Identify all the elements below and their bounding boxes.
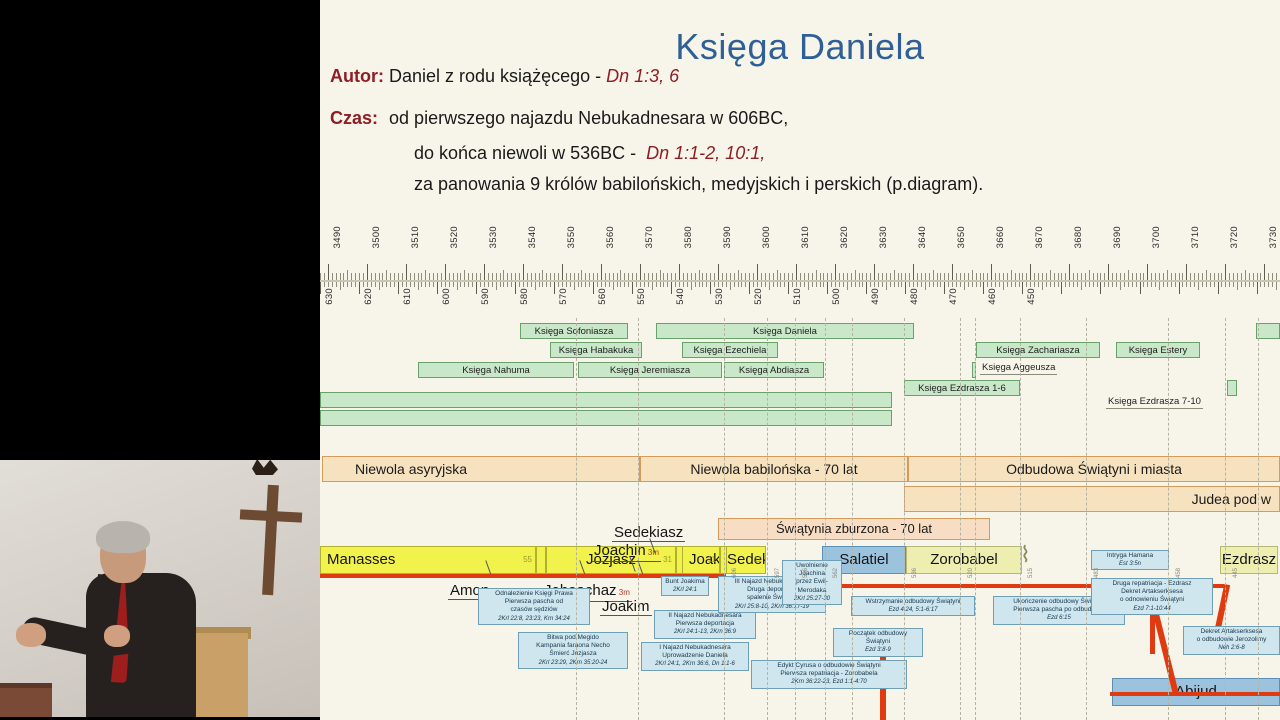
- speaker-video-overlay[interactable]: [0, 455, 320, 720]
- guide-year-label: 597: [775, 568, 781, 578]
- zigzag-break-icon: ⌇: [1020, 544, 1031, 566]
- book-bar[interactable]: Księga Ezechiela: [682, 342, 778, 358]
- historical-periods-band: Niewola asyryjskaNiewola babilońska - 70…: [320, 456, 1280, 516]
- ruler-tick: [613, 273, 614, 280]
- ruler-tick: [406, 264, 407, 280]
- ruler-tick: [851, 282, 852, 287]
- event-box[interactable]: Odnalezienie Księgi PrawaPierwsza pascha…: [478, 588, 590, 625]
- book-bar[interactable]: Księga Zachariasza: [976, 342, 1100, 358]
- ruler-tick: [457, 273, 458, 280]
- ruler-tick-label-top: 3710: [1190, 226, 1201, 248]
- period-band[interactable]: Niewola babilońska - 70 lat: [640, 456, 908, 482]
- ruler-tick-label-bottom: 490: [870, 288, 881, 305]
- ruler-tick: [386, 270, 387, 280]
- book-bar[interactable]: Księga Abdiasza: [724, 362, 824, 378]
- ruler-tick: [539, 282, 540, 287]
- ruler-tick-label-bottom: 480: [909, 288, 920, 305]
- ruler-tick: [980, 282, 981, 287]
- ruler-tick: [418, 282, 419, 290]
- event-box[interactable]: Druga repatriacja - EzdraszDekret Artaks…: [1091, 578, 1213, 615]
- ruler-tick: [1015, 282, 1016, 287]
- ruler-tick: [773, 273, 774, 280]
- ruler-tick: [1171, 282, 1172, 287]
- ruler-tick: [1229, 282, 1230, 287]
- ruler-tick: [1151, 282, 1152, 287]
- ruler-tick: [449, 273, 450, 280]
- ruler-tick: [464, 270, 465, 280]
- ruler-tick: [332, 273, 333, 280]
- ruler-tick-label-top: 3680: [1073, 226, 1084, 248]
- ruler-tick: [605, 282, 606, 287]
- ruler-tick: [585, 282, 586, 287]
- ruler-tick: [944, 282, 945, 294]
- ruler-tick: [983, 273, 984, 280]
- ruler-tick: [1132, 273, 1133, 280]
- ruler-tick: [1198, 282, 1199, 290]
- ruler-tick: [515, 282, 516, 294]
- ruler-tick: [948, 282, 949, 287]
- ruler-tick: [1171, 273, 1172, 280]
- ruler-tick: [445, 264, 446, 280]
- ruler-tick: [1257, 282, 1258, 294]
- ruler-tick: [480, 273, 481, 280]
- ruler-tick: [542, 282, 543, 287]
- king-reign-years: 11: [754, 547, 762, 573]
- ruler-tick: [1276, 273, 1277, 280]
- ruler-tick: [652, 282, 653, 290]
- ruler-tick: [1175, 282, 1176, 287]
- period-band[interactable]: Niewola asyryjska: [322, 456, 640, 482]
- ruler-tick: [843, 282, 844, 287]
- ruler-tick: [1140, 273, 1141, 280]
- ruler-tick-label-top: 3490: [332, 226, 343, 248]
- ruler-tick: [1147, 264, 1148, 280]
- event-box-line: Śmierć Jozjasza: [521, 650, 625, 658]
- king-bar[interactable]: Ezdrasz: [1220, 546, 1278, 574]
- time-row-2: do końca niewoli w 536BC - Dn 1:1-2, 10:…: [414, 143, 765, 164]
- ruler-tick: [332, 282, 333, 287]
- ruler-tick: [765, 282, 766, 287]
- ruler-tick-label-bottom: 550: [636, 288, 647, 305]
- event-box-line: II Najazd Nebukadnesara: [657, 612, 753, 620]
- ruler-tick-label-bottom: 560: [597, 288, 608, 305]
- ruler-tick: [940, 282, 941, 287]
- ruler-tick: [340, 273, 341, 280]
- ruler-tick: [1143, 282, 1144, 287]
- ruler-tick: [468, 282, 469, 287]
- chair: [0, 683, 52, 720]
- timeline-ruler: 3490350035103520353035403550356035703580…: [320, 226, 1280, 318]
- ruler-tick: [527, 282, 528, 287]
- ruler-tick: [1237, 282, 1238, 290]
- ruler-tick-label-top: 3530: [488, 226, 499, 248]
- event-box[interactable]: Początek odbudowy ŚwiątyniEzd 3:8-9: [833, 628, 923, 657]
- ruler-tick: [363, 282, 364, 287]
- ruler-tick: [1093, 282, 1094, 287]
- ruler-tick: [1140, 282, 1141, 294]
- ruler-tick: [937, 282, 938, 287]
- ruler-tick: [535, 282, 536, 290]
- presentation-slide: Księga Daniela Autor: Daniel z rodu ksią…: [320, 0, 1280, 720]
- ruler-tick: [1050, 282, 1051, 287]
- ruler-tick: [609, 273, 610, 280]
- ruler-tick: [656, 282, 657, 287]
- ruler-tick: [429, 273, 430, 280]
- ruler-tick: [1268, 273, 1269, 280]
- ruler-tick: [714, 273, 715, 280]
- book-bar[interactable]: Księga Jeremiasza: [578, 362, 722, 378]
- event-box-reference: Ezd 4:24, 5:1-6:17: [854, 606, 972, 614]
- ruler-tick-label-top: 3560: [605, 226, 616, 248]
- ruler-tick: [1245, 270, 1246, 280]
- ruler-tick: [1202, 273, 1203, 280]
- ruler-tick: [1151, 273, 1152, 280]
- timeline-red-line: [1110, 692, 1280, 696]
- event-box-reference: 2Krl 24:1-13, 2Krn 36:9: [657, 628, 753, 636]
- ruler-tick-label-bottom: 590: [480, 288, 491, 305]
- ruler-tick: [784, 282, 785, 287]
- ruler-tick: [589, 282, 590, 287]
- ruler-tick: [995, 282, 996, 287]
- ruler-tick: [421, 282, 422, 287]
- ruler-tick: [870, 273, 871, 280]
- ruler-tick: [562, 264, 563, 280]
- ruler-tick: [648, 273, 649, 280]
- ruler-tick: [496, 273, 497, 280]
- ruler-tick: [706, 282, 707, 287]
- ruler-tick: [1194, 282, 1195, 287]
- ruler-tick: [515, 273, 516, 280]
- ruler-tick: [1011, 282, 1012, 287]
- ruler-tick-label-top: 3650: [956, 226, 967, 248]
- ruler-tick: [500, 273, 501, 280]
- event-box[interactable]: Dekret Artakserksesao odbudowie Jerozoli…: [1183, 626, 1280, 655]
- ruler-tick-label-top: 3690: [1112, 226, 1123, 248]
- time-text-2: do końca niewoli w 536BC -: [414, 143, 636, 163]
- ruler-tick: [663, 273, 664, 280]
- ruler-tick: [1069, 264, 1070, 280]
- ruler-tick: [1061, 282, 1062, 294]
- ruler-tick-label-bottom: 520: [753, 288, 764, 305]
- ruler-tick: [1077, 282, 1078, 287]
- chart-vertical-guide: [795, 318, 796, 720]
- ruler-tick: [812, 273, 813, 280]
- ruler-tick: [441, 282, 442, 287]
- event-box-reference: Ezd 3:8-9: [836, 646, 920, 654]
- ruler-tick: [956, 282, 957, 287]
- event-box-line: Pierwsza deportacja: [657, 620, 753, 628]
- ruler-tick: [948, 273, 949, 280]
- ruler-tick: [1241, 273, 1242, 280]
- ruler-tick: [660, 270, 661, 280]
- ruler-tick: [1007, 282, 1008, 287]
- ruler-tick: [714, 282, 715, 287]
- ruler-tick: [511, 273, 512, 280]
- ruler-tick: [1249, 273, 1250, 280]
- ruler-tick: [894, 282, 895, 287]
- event-box-line: przez Ewil-Merodaka: [785, 578, 839, 594]
- chart-vertical-guide: [724, 318, 725, 720]
- ruler-tick: [464, 282, 465, 287]
- ruler-tick: [617, 282, 618, 287]
- ruler-tick: [347, 270, 348, 280]
- ruler-tick: [593, 282, 594, 294]
- ruler-tick: [1155, 282, 1156, 287]
- ruler-tick: [1225, 264, 1226, 280]
- ruler-tick: [1257, 273, 1258, 280]
- event-box[interactable]: I Najazd NebukadnesaraUprowadzenie Danie…: [641, 642, 749, 671]
- ruler-tick: [905, 282, 906, 294]
- ruler-tick: [1046, 273, 1047, 280]
- ruler-tick: [987, 273, 988, 280]
- ruler-tick: [597, 282, 598, 287]
- ruler-tick: [648, 282, 649, 287]
- ruler-tick: [1030, 264, 1031, 280]
- ruler-tick: [823, 273, 824, 280]
- ruler-tick: [574, 282, 575, 290]
- ruler-tick: [1179, 282, 1180, 294]
- ruler-tick: [999, 273, 1000, 280]
- ruler-tick: [1061, 273, 1062, 280]
- author-row: Autor: Daniel z rodu książęcego - Dn 1:3…: [330, 66, 679, 87]
- ruler-tick: [320, 273, 321, 280]
- chart-vertical-guide: [904, 318, 905, 720]
- event-box[interactable]: Bitwa pod MegidoKampania faraona NechoŚm…: [518, 632, 628, 669]
- ruler-tick-label-top: 3600: [761, 226, 772, 248]
- ruler-tick: [523, 282, 524, 287]
- guide-year-label: 586: [803, 568, 809, 578]
- ruler-tick: [757, 282, 758, 287]
- king-bar[interactable]: Zorobabel: [906, 546, 1022, 574]
- book-bar[interactable]: Księga Ezdrasza 1-6: [904, 380, 1020, 396]
- ruler-tick: [987, 282, 988, 287]
- ruler-tick: [777, 270, 778, 280]
- ruler-tick: [546, 282, 547, 287]
- event-box[interactable]: II Najazd NebukadnesaraPierwsza deportac…: [654, 610, 756, 639]
- ruler-tick: [371, 282, 372, 287]
- ruler-tick: [1229, 273, 1230, 280]
- ruler-tick: [527, 273, 528, 280]
- ruler-tick: [1097, 273, 1098, 280]
- ruler-tick: [1073, 282, 1074, 287]
- book-bar[interactable]: Księga Sofoniasza: [520, 323, 628, 339]
- ruler-tick: [726, 273, 727, 280]
- ruler-tick: [589, 273, 590, 280]
- ruler-tick: [1100, 282, 1101, 294]
- ruler-tick: [886, 273, 887, 280]
- ruler-tick: [511, 282, 512, 287]
- event-box-line: Uwolnienie Joachina: [785, 562, 839, 578]
- ruler-tick: [390, 282, 391, 287]
- ruler-tick-label-top: 3580: [683, 226, 694, 248]
- ruler-tick: [1065, 282, 1066, 287]
- ruler-tick: [804, 282, 805, 287]
- event-box-reference: Neh 2:6-8: [1186, 644, 1277, 652]
- ruler-tick: [738, 282, 739, 287]
- ruler-tick: [1124, 273, 1125, 280]
- ruler-tick: [1218, 273, 1219, 280]
- ruler-tick: [823, 282, 824, 287]
- ruler-tick: [870, 282, 871, 287]
- ruler-tick: [890, 282, 891, 287]
- ruler-tick: [1003, 273, 1004, 280]
- ruler-tick: [519, 273, 520, 280]
- book-callout-label: Księga Aggeusza: [980, 362, 1057, 375]
- ruler-tick: [484, 282, 485, 287]
- ruler-tick: [476, 282, 477, 294]
- king-bar[interactable]: [536, 546, 546, 574]
- ruler-tick: [449, 282, 450, 287]
- ruler-tick: [1100, 273, 1101, 280]
- book-bar[interactable]: Księga Daniela: [656, 323, 914, 339]
- ruler-tick: [1112, 282, 1113, 287]
- king-bar[interactable]: Joakim11: [682, 546, 720, 574]
- ruler-tick: [441, 273, 442, 280]
- event-box-reference: 2Krl 24:1: [664, 586, 706, 594]
- ruler-tick: [1046, 282, 1047, 287]
- book-bar-long[interactable]: [320, 392, 892, 408]
- ruler-tick: [917, 282, 918, 287]
- ruler-tick: [671, 282, 672, 294]
- ruler-tick: [531, 273, 532, 280]
- ruler-tick: [913, 282, 914, 287]
- ruler-tick: [855, 270, 856, 280]
- ruler-tick: [972, 282, 973, 287]
- ruler-tick: [933, 270, 934, 280]
- ruler-tick: [1108, 264, 1109, 280]
- ruler-tick: [940, 273, 941, 280]
- book-callout-label: Księga Ezdrasza 7-10: [1106, 396, 1203, 409]
- ruler-tick: [1065, 273, 1066, 280]
- king-reign-years: 31: [663, 547, 672, 573]
- event-box[interactable]: Uwolnienie Joachinaprzez Ewil-Merodaka2K…: [782, 560, 842, 605]
- ruler-tick: [901, 282, 902, 287]
- ruler-tick: [921, 273, 922, 280]
- event-box[interactable]: Bunt Joakima2Krl 24:1: [661, 576, 709, 596]
- time-text-1: od pierwszego najazdu Nebukadnesara w 60…: [389, 108, 788, 128]
- event-box[interactable]: Intryga HamanaEst 3:5n: [1091, 550, 1169, 570]
- ruler-tick: [433, 282, 434, 287]
- ruler-tick: [585, 273, 586, 280]
- book-bar[interactable]: [1227, 380, 1237, 396]
- ruler-tick: [862, 282, 863, 287]
- event-box-line: o odnowieniu Świątyni: [1094, 596, 1210, 604]
- ruler-tick: [367, 282, 368, 287]
- ruler-tick: [835, 282, 836, 287]
- ruler-tick: [1120, 282, 1121, 290]
- ruler-tick: [1167, 282, 1168, 287]
- ruler-tick: [336, 273, 337, 280]
- ruler-tick: [831, 282, 832, 287]
- event-box-line: Dekret Artakserksesa: [1186, 628, 1277, 636]
- ruler-tick: [453, 282, 454, 287]
- ruler-tick: [976, 282, 977, 287]
- ruler-tick: [1026, 273, 1027, 280]
- book-bar[interactable]: Księga Estery: [1116, 342, 1200, 358]
- ruler-tick-label-bottom: 500: [831, 288, 842, 305]
- ruler-tick: [398, 282, 399, 294]
- ruler-tick: [351, 273, 352, 280]
- ruler-tick: [620, 270, 621, 280]
- speaker-hand-right: [104, 625, 130, 647]
- ruler-tick: [1116, 273, 1117, 280]
- ruler-tick: [1182, 273, 1183, 280]
- ruler-tick: [741, 282, 742, 287]
- ruler-tick: [398, 273, 399, 280]
- book-bar[interactable]: Księga Nahuma: [418, 362, 574, 378]
- ruler-tick: [730, 282, 731, 290]
- ruler-tick: [812, 282, 813, 287]
- event-box-line: o odbudowie Jerozolimy: [1186, 636, 1277, 644]
- ruler-tick: [1019, 282, 1020, 287]
- ruler-tick: [671, 273, 672, 280]
- ruler-tick: [847, 282, 848, 290]
- ruler-tick: [745, 282, 746, 287]
- speaker-hand-left: [16, 623, 46, 647]
- ruler-tick: [1167, 270, 1168, 280]
- ruler-tick: [1073, 273, 1074, 280]
- chart-vertical-guide: [767, 318, 768, 720]
- ruler-tick: [578, 282, 579, 287]
- ruler-tick: [660, 282, 661, 287]
- ruler-tick: [1104, 282, 1105, 287]
- event-box-reference: 2Krl 24:1, 2Krn 36:6, Dn 1:1-6: [644, 660, 746, 668]
- ruler-tick: [1120, 273, 1121, 280]
- ruler-tick: [800, 273, 801, 280]
- ruler-tick: [636, 282, 637, 287]
- book-bar[interactable]: Księga Habakuka: [550, 342, 642, 358]
- ruler-tick: [804, 273, 805, 280]
- ruler-tick: [980, 273, 981, 280]
- ruler-tick: [691, 282, 692, 290]
- ruler-tick-label-top: 3670: [1034, 226, 1045, 248]
- ruler-tick: [390, 273, 391, 280]
- event-box[interactable]: Edykt Cyrusa o odbudowie ŚwiątyniPierwsz…: [751, 660, 907, 689]
- ruler-tick: [706, 273, 707, 280]
- ruler-tick: [976, 273, 977, 280]
- ruler-tick: [792, 282, 793, 287]
- ruler-tick: [894, 270, 895, 280]
- ruler-tick: [710, 282, 711, 294]
- ruler-tick-label-top: 3720: [1229, 226, 1240, 248]
- ruler-tick: [839, 282, 840, 287]
- ruler-tick: [581, 270, 582, 280]
- ruler-tick: [492, 273, 493, 280]
- ruler-tick: [859, 273, 860, 280]
- ruler-tick: [1136, 282, 1137, 287]
- ruler-tick: [687, 282, 688, 287]
- ruler-tick: [1081, 282, 1082, 290]
- ruler-tick: [492, 282, 493, 287]
- ruler-tick: [769, 282, 770, 290]
- ruler-tick: [480, 282, 481, 287]
- ruler-tick: [1143, 273, 1144, 280]
- ruler-tick: [355, 273, 356, 280]
- book-bar[interactable]: [1256, 323, 1280, 339]
- guide-year-label: 445: [1233, 568, 1239, 578]
- ruler-tick: [753, 273, 754, 280]
- chart-vertical-guide: [960, 318, 961, 720]
- event-box[interactable]: Wstrzymanie odbudowy ŚwiątyniEzd 4:24, 5…: [851, 596, 975, 616]
- ruler-tick: [609, 282, 610, 287]
- ruler-tick: [351, 282, 352, 287]
- king-bar[interactable]: Manasses55: [320, 546, 536, 574]
- ruler-tick: [1241, 282, 1242, 287]
- ruler-tick: [558, 273, 559, 280]
- book-bar-long[interactable]: [320, 410, 892, 426]
- ruler-tick: [796, 282, 797, 287]
- ruler-tick: [632, 282, 633, 294]
